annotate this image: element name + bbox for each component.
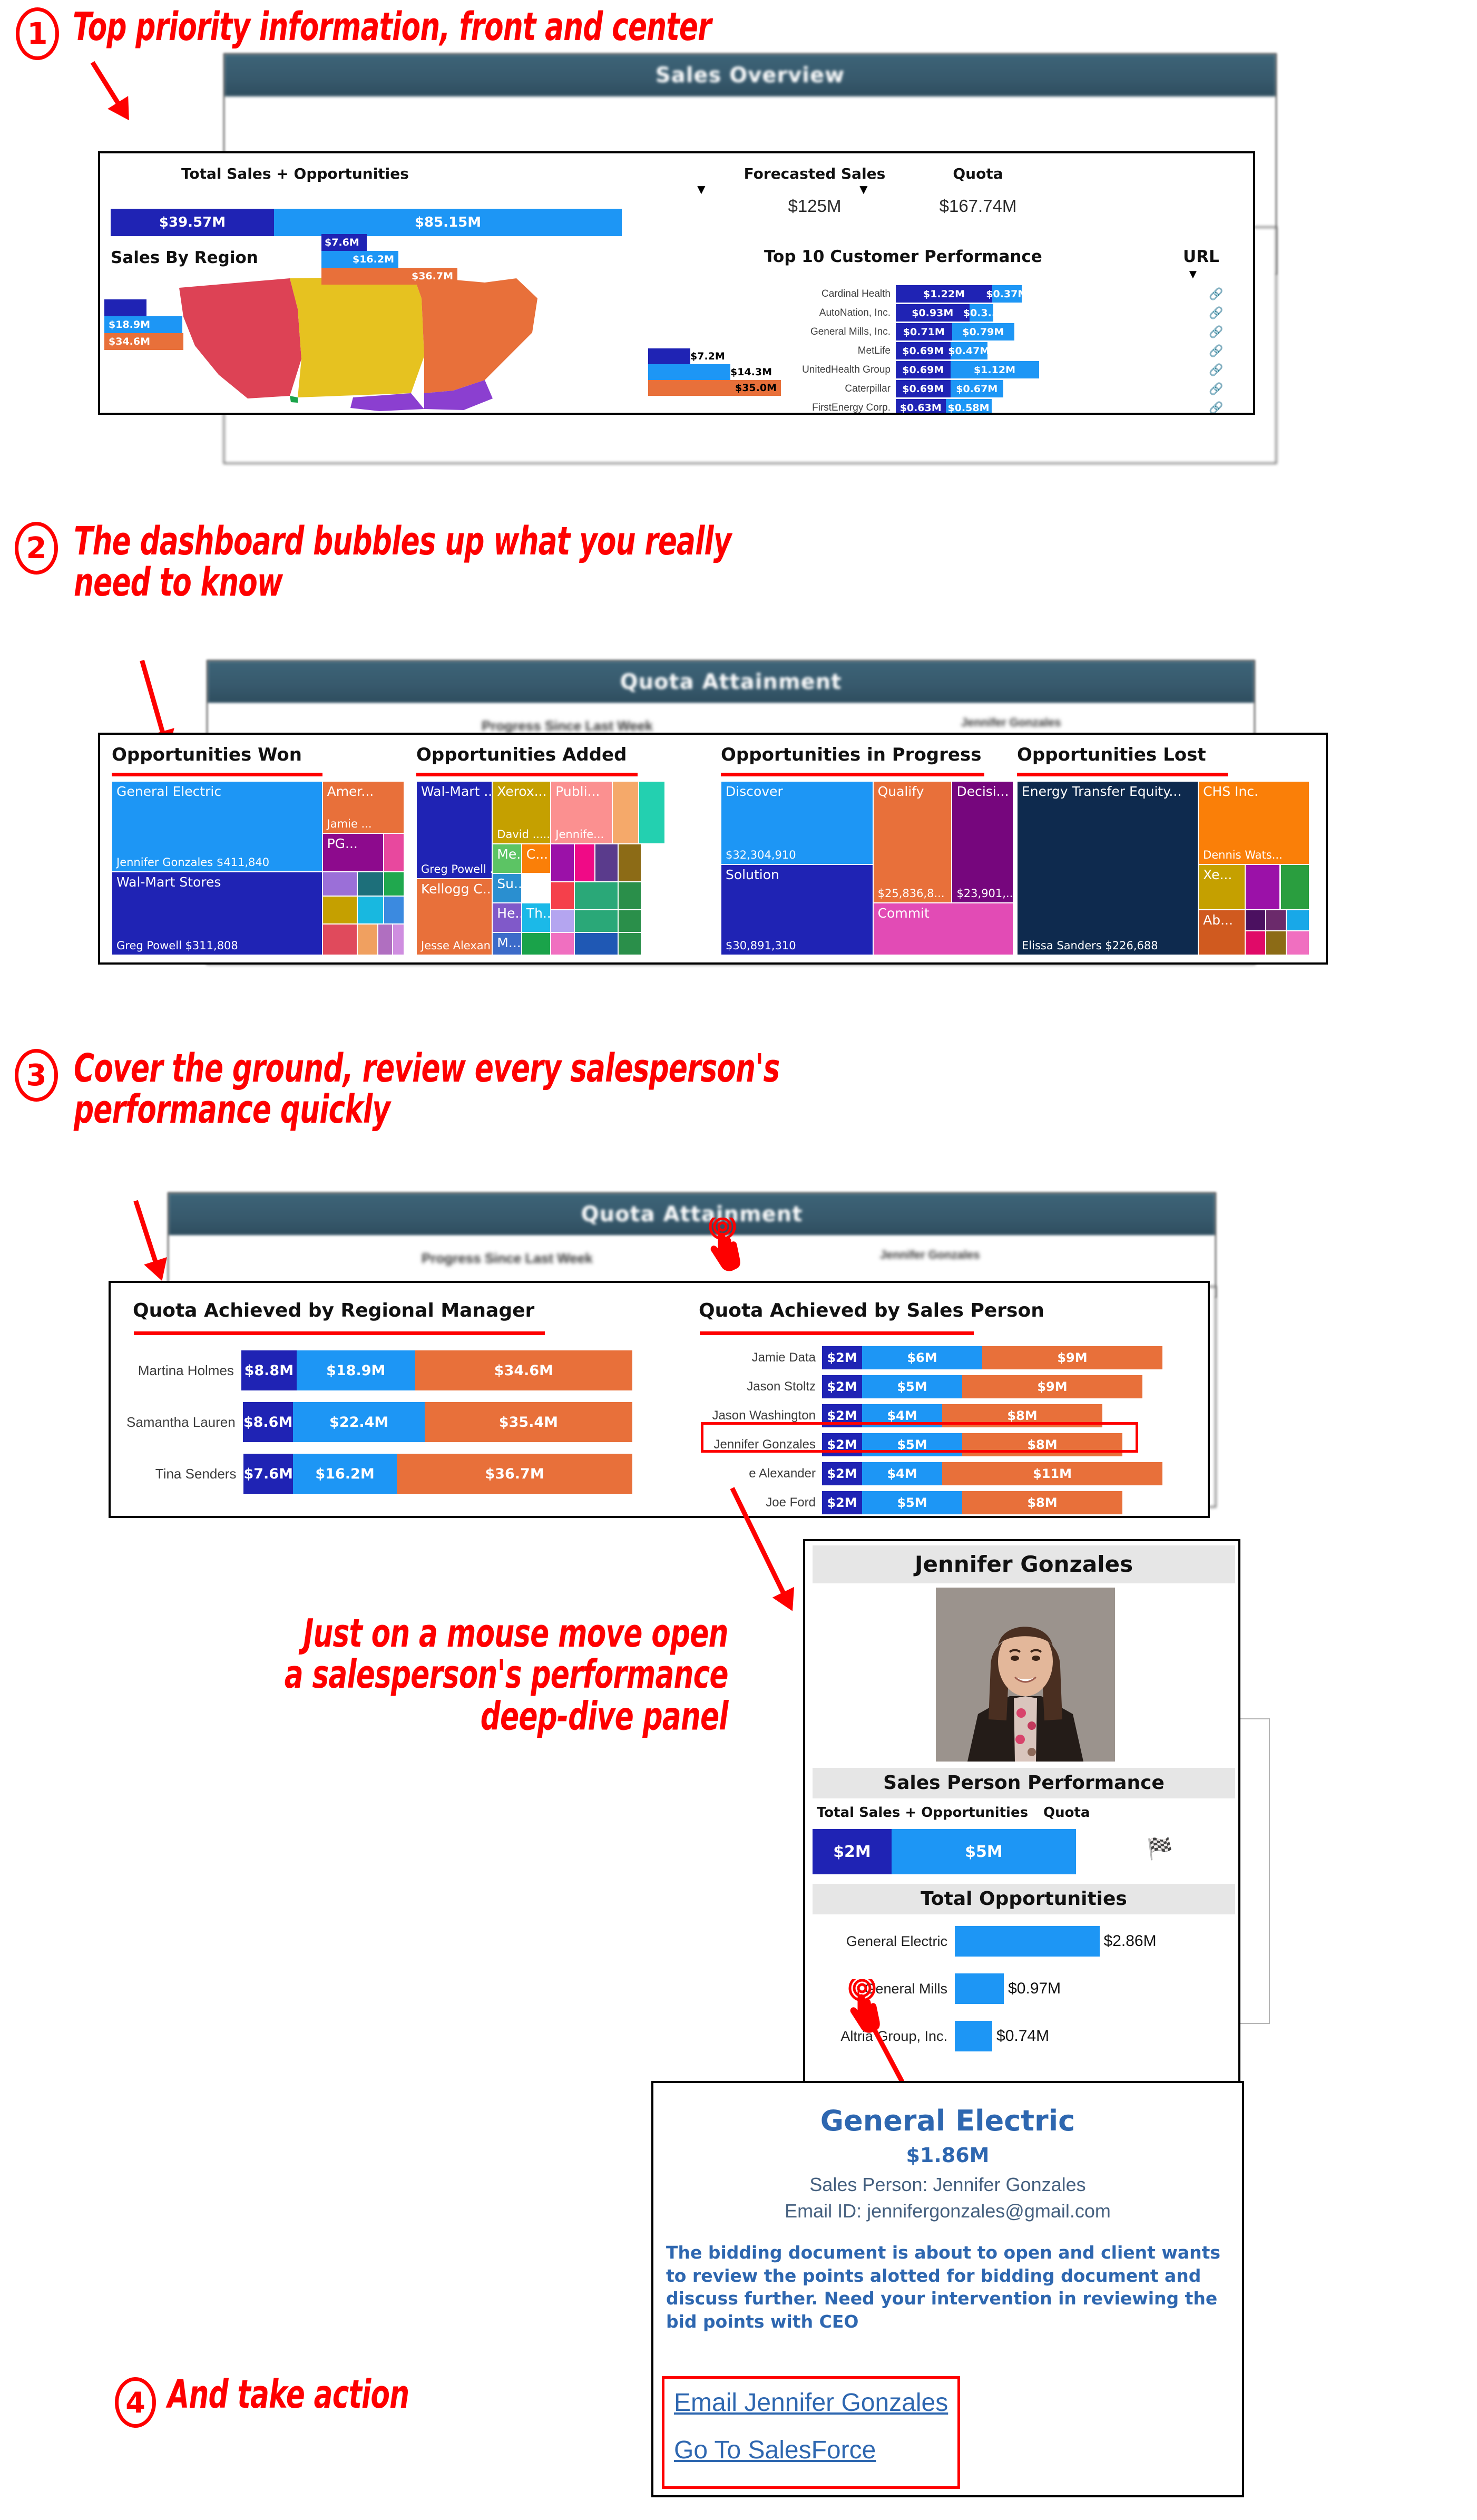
treemap-cell-label: C... [526, 847, 548, 862]
link-icon[interactable]: 🔗 [1205, 401, 1228, 415]
treemap-cell[interactable] [618, 932, 641, 955]
manager-opportunities-segment: $16.2M [293, 1454, 397, 1494]
person-sales-segment: $2M [822, 1462, 862, 1485]
treemap-cell-label: Me... [497, 847, 522, 862]
bar-segment-opportunities: $85.15M [274, 209, 622, 236]
treemap-cell[interactable]: Amer...Jamie ... [322, 781, 404, 833]
url-column-header: URL [1183, 247, 1219, 266]
treemap-cell[interactable] [1245, 910, 1266, 931]
treemap[interactable]: Wal-Mart ...Greg Powell ...Kellogg C...J… [416, 781, 709, 955]
regional-manager-name: Tina Senders [126, 1466, 243, 1482]
link-icon[interactable]: 🔗 [1205, 287, 1228, 301]
sales-person-name: e Alexander [690, 1466, 822, 1481]
regional-manager-name: Martina Holmes [126, 1363, 241, 1379]
treemap-cell[interactable] [1266, 931, 1286, 955]
table-row[interactable]: Martina Holmes$8.8M$18.9M$34.6M [126, 1350, 632, 1390]
treemap-cell[interactable] [551, 882, 574, 910]
customer-name: Caterpillar [790, 383, 896, 395]
opportunity-panel-title: Opportunities Lost [1017, 744, 1206, 765]
annotated-dashboard-walkthrough: 1 Top priority information, front and ce… [0, 0, 1477, 2520]
treemap-cell[interactable]: CHS Inc.Dennis Wats... [1198, 781, 1309, 864]
treemap-cell-label: CHS Inc. [1203, 784, 1258, 799]
treemap-cell-label: Amer... [327, 784, 374, 799]
treemap-cell-label: U... [526, 876, 549, 891]
selected-sales-person-highlight [701, 1422, 1138, 1453]
detail-perf-bar: $2M $5M [813, 1829, 1076, 1874]
treemap-cell-label: He... [497, 906, 522, 921]
treemap-cell[interactable] [551, 910, 574, 932]
treemap-cell[interactable]: Solution$30,891,310 [721, 864, 873, 955]
opportunity-panel-underline [112, 773, 322, 776]
opportunity-panel-underline [721, 773, 984, 776]
customer-opportunities-segment: $0.79M [952, 323, 1015, 340]
treemap-cell[interactable]: Kellogg C...Jesse Alexan... [416, 879, 492, 955]
customer-sales-segment: $0.69M [896, 361, 951, 378]
treemap-cell-label: Ab... [1203, 912, 1233, 928]
opportunity-value: $0.97M [1008, 1980, 1061, 1998]
tooltip-actions-box: Email Jennifer Gonzales Go To SalesForce [662, 2376, 960, 2489]
treemap-cell[interactable] [612, 781, 639, 844]
table-row[interactable]: Tina Senders$7.6M$16.2M$36.7M [126, 1454, 632, 1494]
treemap-cell-label: Publi... [555, 784, 600, 799]
treemap-cell[interactable] [393, 924, 404, 955]
table-row[interactable]: AutoNation, Inc.$0.93M$0.3...🔗 [790, 304, 1228, 322]
annotation-text-3: Cover the ground, review every salespers… [74, 1048, 779, 1131]
tooltip-company-name: General Electric [653, 2104, 1242, 2137]
treemap[interactable]: Energy Transfer Equity...Elissa Sanders … [1017, 781, 1309, 955]
checkered-flag-icon: 🏁 [1147, 1836, 1173, 1861]
opportunity-company-name: General Mills [813, 1981, 955, 1997]
treemap-cell[interactable] [357, 896, 384, 924]
customer-opportunities-segment: $0.58M [946, 399, 992, 415]
treemap-cell[interactable] [1245, 864, 1280, 910]
top10-customer-performance-title: Top 10 Customer Performance [764, 247, 1042, 266]
manager-sales-segment: $8.8M [241, 1350, 297, 1390]
treemap-cell[interactable] [574, 932, 618, 955]
detail-perf-bar-quota: $5M [892, 1829, 1076, 1874]
region-central-sales-bar: $7.6M [321, 234, 367, 251]
regional-manager-name: Samantha Lauren [126, 1414, 243, 1431]
treemap[interactable]: General ElectricJennifer Gonzales $411,8… [112, 781, 404, 955]
treemap-cell[interactable]: C... [522, 844, 551, 873]
opportunity-panel-title: Opportunities in Progress [721, 744, 981, 765]
sales-person-name: Jamie Data [690, 1350, 822, 1365]
detail-perf-left-label: Total Sales + Opportunities [817, 1805, 1028, 1821]
customer-sales-segment: $0.69M [896, 380, 951, 397]
customer-opportunities-segment: $0.67M [951, 380, 1004, 397]
tooltip-amount: $1.86M [653, 2144, 1242, 2167]
quota-by-regional-manager-title: Quota Achieved by Regional Manager [133, 1300, 534, 1321]
treemap-cell-value: David ...... [497, 828, 551, 841]
table-row[interactable]: Cardinal Health$1.22M$0.37M🔗 [790, 285, 1228, 303]
treemap-cell[interactable]: Me... [492, 844, 522, 873]
link-icon[interactable]: 🔗 [1205, 325, 1228, 339]
link-icon[interactable]: 🔗 [1205, 363, 1228, 377]
treemap-cell-label: Th... [526, 906, 551, 921]
manager-quota-segment: $35.4M [425, 1402, 632, 1442]
treemap-cell[interactable]: Ab... [1198, 910, 1245, 955]
customer-name: AutoNation, Inc. [790, 307, 896, 319]
table-row[interactable]: Caterpillar$0.69M$0.67M🔗 [790, 380, 1228, 397]
treemap-cell[interactable] [384, 833, 404, 872]
treemap-cell[interactable] [1286, 910, 1309, 931]
treemap-cell-label: Energy Transfer Equity... [1022, 784, 1181, 799]
table-row[interactable]: FirstEnergy Corp.$0.63M$0.58M🔗 [790, 399, 1228, 415]
customer-name: UnitedHealth Group [790, 364, 896, 376]
kpi-total-sales-opportunities: Total Sales + Opportunities [181, 165, 409, 182]
region-west-quota-bar: $34.6M [104, 333, 183, 350]
table-row[interactable]: Samantha Lauren$8.6M$22.4M$35.4M [126, 1402, 632, 1442]
region-bars-central: $7.6M $16.2M $36.7M [321, 234, 457, 285]
kpi-value-quota: $167.74M [899, 196, 1057, 216]
person-sales-segment: $2M [822, 1346, 862, 1369]
treemap-cell-label: General Electric [116, 784, 221, 799]
treemap-cell-value: $32,304,910 [726, 849, 796, 861]
region-central-opportunities-bar: $16.2M [321, 251, 398, 268]
table-row[interactable]: MetLife$0.69M$0.47M🔗 [790, 342, 1228, 359]
quota-attainment-person-chip-2: Jennifer Gonzales [880, 1248, 980, 1262]
person-opportunities-segment: $6M [862, 1346, 982, 1369]
treemap-cell-label: Decisi... [956, 784, 1009, 799]
table-row[interactable]: e Alexander$2M$4M$11M [690, 1462, 1196, 1485]
customer-name: MetLife [790, 345, 896, 357]
treemap-cell[interactable] [551, 932, 574, 955]
treemap-cell[interactable] [1286, 931, 1309, 955]
tooltip-note: The bidding document is about to open an… [666, 2241, 1230, 2333]
quota-attainment-subtitle: Progress Since Last Week [482, 718, 653, 734]
treemap-cell-label: Wal-Mart Stores [116, 874, 221, 890]
treemap-cell-value: Dennis Wats... [1203, 849, 1283, 861]
treemap-cell-value: $30,891,310 [726, 939, 796, 952]
treemap-cell-label: PG... [327, 836, 358, 851]
opportunity-panel-underline [416, 773, 638, 776]
person-quota-segment: $11M [942, 1462, 1162, 1485]
table-row[interactable]: Jason Stoltz$2M$5M$9M [690, 1375, 1196, 1398]
quota-marker-icon: ▼ [857, 182, 1057, 196]
quota-by-sales-person-title: Quota Achieved by Sales Person [699, 1300, 1044, 1321]
list-item[interactable]: General Electric$2.86M [813, 1926, 1234, 1957]
annotation-text-2: The dashboard bubbles up what you really… [74, 521, 731, 604]
person-quota-segment: $9M [982, 1346, 1162, 1369]
tooltip-sales-person: Sales Person: Jennifer Gonzales [653, 2174, 1242, 2196]
person-sales-segment: $2M [822, 1491, 862, 1514]
person-quota-segment: $8M [962, 1491, 1122, 1514]
top10-customer-rows: Cardinal Health$1.22M$0.37M🔗AutoNation, … [790, 285, 1228, 415]
sales-overview-card: Total Sales + Opportunities Forecasted S… [98, 151, 1255, 415]
person-opportunities-segment: $5M [862, 1375, 962, 1398]
treemap-cell[interactable] [595, 844, 618, 882]
treemap-cell-label: Xe... [1203, 867, 1232, 882]
sales-person-name: Joe Ford [690, 1495, 822, 1510]
treemap-cell-label: Kellogg C... [421, 881, 492, 897]
detail-panel-performance-band: Sales Person Performance [813, 1768, 1235, 1798]
email-sales-person-link[interactable]: Email Jennifer Gonzales [674, 2388, 948, 2417]
treemap-cell-label: Commit [878, 906, 930, 921]
annotation-number-1: 1 [16, 7, 59, 60]
table-row[interactable]: UnitedHealth Group$0.69M$1.12M🔗 [790, 361, 1228, 378]
region-west-sales-bar [104, 299, 146, 316]
customer-opportunities-segment: $1.12M [951, 361, 1039, 378]
region-east-sales-bar: $7.2M [648, 348, 690, 364]
table-row[interactable]: General Mills, Inc.$0.71M$0.79M🔗 [790, 323, 1228, 340]
sales-overview-header-title: Sales Overview [224, 54, 1276, 96]
treemap-cell[interactable]: U... [522, 873, 551, 903]
treemap-cell[interactable] [522, 932, 551, 955]
manager-sales-segment: $8.6M [243, 1402, 294, 1442]
treemap-cell[interactable] [322, 872, 358, 896]
treemap-cell-value: Jesse Alexan... [421, 939, 492, 952]
table-row[interactable]: Joe Ford$2M$5M$8M [690, 1491, 1196, 1514]
quota-attainment-header-title: Quota Attainment [208, 661, 1254, 703]
opportunity-bar [955, 1973, 1004, 2004]
opportunity-panel-title: Opportunities Added [416, 744, 627, 765]
opportunities-treemaps-card: Opportunities WonGeneral ElectricJennife… [98, 733, 1328, 965]
sales-by-region-title: Sales By Region [111, 248, 258, 267]
treemap-cell[interactable] [618, 844, 641, 882]
opportunity-panel-title: Opportunities Won [112, 744, 302, 765]
treemap-cell[interactable] [384, 896, 404, 924]
treemap-cell[interactable] [322, 924, 358, 955]
detail-panel-opportunities-band: Total Opportunities [813, 1884, 1235, 1914]
annotation-text-1: Top priority information, front and cent… [73, 6, 711, 48]
treemap-cell-label: Solution [726, 867, 779, 882]
treemap-cell[interactable] [357, 924, 378, 955]
manager-opportunities-segment: $18.9M [297, 1350, 415, 1390]
region-east-quota-bar: $35.0M [648, 380, 781, 396]
treemap-cell-value: Greg Powell ... [421, 863, 492, 875]
treemap-cell[interactable] [574, 910, 618, 932]
treemap-cell[interactable] [1280, 864, 1310, 910]
treemap-cell-value: Jamie ... [327, 818, 372, 830]
treemap-cell-label: Qualify [878, 784, 924, 799]
opportunity-panel-underline [1017, 773, 1228, 776]
quota-attainment-header-title-2: Quota Attainment [169, 1193, 1215, 1235]
region-bars-east: $7.2M $14.3M $35.0M [648, 348, 781, 396]
go-to-salesforce-link[interactable]: Go To SalesForce [674, 2436, 876, 2465]
treemap-cell[interactable] [574, 844, 595, 882]
sales-person-name: Jason Stoltz [690, 1379, 822, 1394]
treemap-cell[interactable] [574, 882, 618, 910]
treemap-cell-value: $25,836,8... [878, 887, 945, 900]
treemap-cell[interactable] [357, 872, 384, 896]
customer-sales-segment: $0.93M [896, 304, 970, 322]
treemap-cell-label: Su... [497, 876, 522, 891]
total-sales-opportunities-bar: $39.57M $85.15M [111, 209, 622, 236]
treemap-cell[interactable] [639, 781, 665, 844]
manager-quota-segment: $36.7M [397, 1454, 632, 1494]
quota-by-sales-person-underline [700, 1331, 974, 1335]
detail-perf-right-label: Quota [1043, 1805, 1090, 1821]
treemap-cell-label: Wal-Mart ... [421, 784, 492, 799]
customer-name: Cardinal Health [790, 288, 896, 300]
annotation-number-3: 3 [15, 1049, 58, 1102]
customer-sales-segment: $0.71M [896, 323, 952, 340]
manager-sales-segment: $7.6M [243, 1454, 293, 1494]
treemap-cell-value: Elissa Sanders $226,688 [1022, 939, 1158, 952]
bar-segment-sales: $39.57M [111, 209, 274, 236]
treemap-cell[interactable] [618, 910, 641, 932]
table-row[interactable]: Jamie Data$2M$6M$9M [690, 1346, 1196, 1369]
treemap-cell[interactable]: Discover$32,304,910 [721, 781, 873, 864]
customer-opportunities-segment: $0.37M [992, 285, 1022, 303]
treemap-cell-value: Jennife... [555, 828, 604, 841]
opportunity-bar [955, 1926, 1100, 1957]
treemap-cell[interactable]: Xe... [1198, 864, 1245, 910]
treemap-cell[interactable]: Wal-Mart ...Greg Powell ... [416, 781, 492, 879]
treemap-cell[interactable]: PG... [322, 833, 384, 872]
treemap-cell[interactable] [322, 896, 358, 924]
treemap-cell[interactable]: Xerox...David ...... [492, 781, 551, 844]
customer-sales-segment: $0.69M [896, 342, 951, 359]
opportunity-value: $2.86M [1104, 1932, 1157, 1950]
treemap-cell[interactable] [1245, 931, 1266, 955]
region-west-opportunities-bar: $18.9M [104, 316, 182, 333]
us-region-map[interactable] [116, 267, 738, 412]
sales-person-avatar [936, 1588, 1115, 1762]
treemap-cell[interactable]: Energy Transfer Equity...Elissa Sanders … [1017, 781, 1198, 955]
quota-by-regional-manager-underline [134, 1331, 545, 1335]
treemap-cell-value: Jennifer Gonzales $411,840 [116, 856, 269, 869]
treemap-cell[interactable] [551, 844, 574, 882]
treemap-cell[interactable]: Wal-Mart StoresGreg Powell $311,808 [112, 872, 322, 955]
customer-opportunities-segment: $0.47M [951, 342, 988, 359]
opportunity-company-name: General Electric [813, 1933, 955, 1950]
treemap-cell[interactable]: He... [492, 903, 522, 932]
quota-achieved-card: Quota Achieved by Regional Manager Quota… [109, 1281, 1210, 1518]
treemap-cell[interactable]: General ElectricJennifer Gonzales $411,8… [112, 781, 322, 872]
treemap-cell[interactable]: Publi...Jennife... [551, 781, 612, 844]
sales-person-name: Jason Washington [690, 1408, 822, 1423]
annotation-number-4: 4 [115, 2377, 156, 2428]
treemap-cell[interactable]: Qualify$25,836,8... [873, 781, 952, 903]
kpi-value-forecasted-sales: $125M [736, 196, 894, 216]
annotation-text-hover-note: Just on a mouse move open a salesperson'… [11, 1613, 728, 1737]
quota-attainment-person-chip: Jennifer Gonzales [961, 716, 1061, 729]
treemap-cell-value: Greg Powell $311,808 [116, 939, 238, 952]
customer-sales-segment: $0.63M [896, 399, 946, 415]
customer-name: General Mills, Inc. [790, 326, 896, 338]
treemap-cell[interactable]: M... [492, 932, 522, 955]
annotation-text-4: And take action [168, 2374, 409, 2416]
region-east-opportunities-bar: $14.3M [648, 364, 730, 380]
treemap-cell[interactable]: Decisi...$23,901,... [952, 781, 1013, 903]
kpi-quota: Quota ▼ $167.74M [899, 165, 1057, 216]
tooltip-email-id: Email ID: jennifergonzales@gmail.com [653, 2200, 1242, 2222]
kpi-label-total-sales: Total Sales + Opportunities [181, 165, 409, 182]
customer-name: FirstEnergy Corp. [790, 402, 896, 414]
person-quota-segment: $9M [962, 1375, 1142, 1398]
customer-sales-segment: $1.22M [896, 285, 992, 303]
link-icon[interactable]: 🔗 [1205, 382, 1228, 396]
treemap-cell[interactable] [618, 882, 641, 910]
treemap-cell[interactable]: Commit [873, 903, 1013, 955]
detail-panel-name-band: Jennifer Gonzales [813, 1545, 1235, 1583]
hand-cursor-icon [706, 1218, 743, 1276]
person-opportunities-segment: $5M [862, 1491, 962, 1514]
treemap-cell[interactable]: Su... [492, 873, 522, 903]
opportunity-bar [955, 2021, 992, 2051]
opportunity-tooltip-card: General Electric $1.86M Sales Person: Je… [651, 2081, 1244, 2497]
regional-manager-rows: Martina Holmes$8.8M$18.9M$34.6MSamantha … [126, 1350, 632, 1505]
treemap-cell[interactable] [1266, 910, 1286, 931]
detail-perf-bar-sales: $2M [813, 1829, 892, 1874]
manager-opportunities-segment: $22.4M [293, 1402, 424, 1442]
manager-quota-segment: $34.6M [415, 1350, 632, 1390]
treemap-cell-label: Discover [726, 784, 783, 799]
person-sales-segment: $2M [822, 1375, 862, 1398]
treemap-cell[interactable]: Th... [522, 903, 551, 932]
link-icon[interactable]: 🔗 [1205, 344, 1228, 358]
treemap-cell[interactable] [378, 924, 393, 955]
opportunity-value: $0.74M [996, 2027, 1049, 2045]
quota-attainment-subtitle-2: Progress Since Last Week [422, 1250, 593, 1267]
treemap[interactable]: Discover$32,304,910Solution$30,891,310Qu… [721, 781, 1013, 955]
treemap-cell[interactable] [384, 872, 404, 896]
person-opportunities-segment: $4M [862, 1462, 942, 1485]
region-bars-west: $18.9M $34.6M [104, 299, 183, 350]
link-icon[interactable]: 🔗 [1205, 306, 1228, 320]
treemap-cell-label: M... [497, 935, 521, 950]
url-column-marker-icon: ▼ [1187, 267, 1199, 282]
kpi-label-forecasted-sales: Forecasted Sales [736, 165, 894, 182]
kpi-label-quota: Quota [899, 165, 1057, 182]
treemap-cell-value: $23,901,... [956, 887, 1013, 900]
region-central-quota-bar: $36.7M [321, 268, 457, 285]
customer-opportunities-segment: $0.3... [970, 304, 993, 322]
annotation-number-2: 2 [15, 522, 58, 575]
annotation-arrow-3 [124, 1197, 172, 1280]
treemap-cell-label: Xerox... [497, 784, 546, 799]
annotation-arrow-1 [82, 56, 139, 127]
